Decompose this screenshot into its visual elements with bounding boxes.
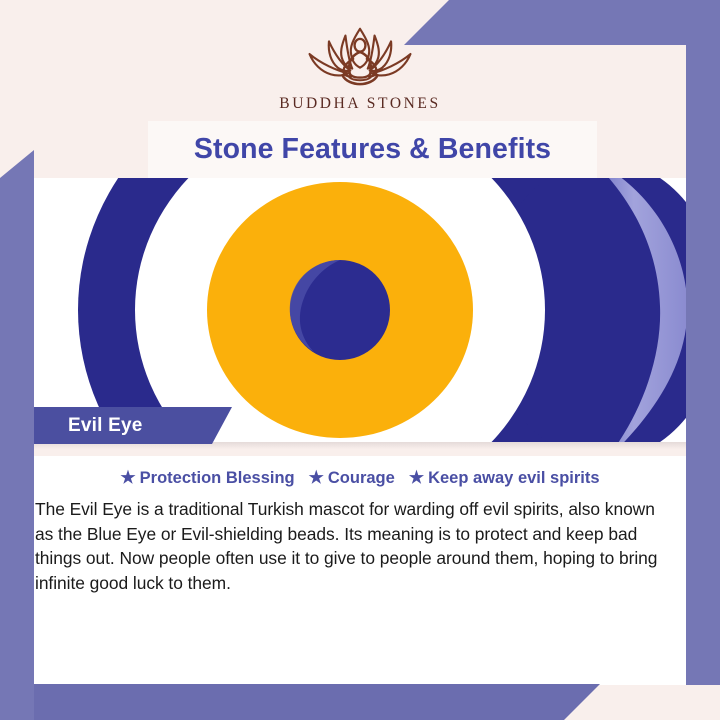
frame-accent-bottom-corner bbox=[0, 684, 34, 720]
status-badge: Evil Eye bbox=[34, 407, 232, 444]
brand-name: BUDDHA STONES bbox=[279, 95, 440, 113]
evil-eye-svg bbox=[34, 178, 686, 442]
benefit-item-0: ★Protection Blessing bbox=[120, 468, 294, 488]
star-icon: ★ bbox=[120, 468, 135, 487]
frame-accent-right bbox=[686, 45, 720, 685]
benefit-label-1: Courage bbox=[328, 469, 395, 487]
star-icon: ★ bbox=[309, 468, 324, 487]
benefit-item-1: ★Courage bbox=[309, 468, 395, 488]
benefit-item-2: ★Keep away evil spirits bbox=[409, 468, 600, 488]
page-title-banner: Stone Features & Benefits bbox=[148, 121, 597, 178]
benefits-list: ★Protection Blessing ★Courage ★Keep away… bbox=[34, 456, 686, 488]
frame-accent-bottom bbox=[0, 684, 600, 720]
badge-label: Evil Eye bbox=[34, 415, 142, 437]
frame-accent-left bbox=[0, 150, 34, 720]
star-icon: ★ bbox=[409, 468, 424, 487]
evil-eye-bead-graphic bbox=[34, 178, 686, 442]
benefit-label-0: Protection Blessing bbox=[140, 469, 295, 487]
description-block: The Evil Eye is a traditional Turkish ma… bbox=[34, 497, 686, 596]
benefit-label-2: Keep away evil spirits bbox=[428, 469, 600, 487]
page-title: Stone Features & Benefits bbox=[194, 133, 551, 166]
content-panel: ★Protection Blessing ★Courage ★Keep away… bbox=[34, 456, 686, 685]
frame-accent-top-right bbox=[404, 0, 720, 45]
description-text: The Evil Eye is a traditional Turkish ma… bbox=[35, 497, 666, 596]
